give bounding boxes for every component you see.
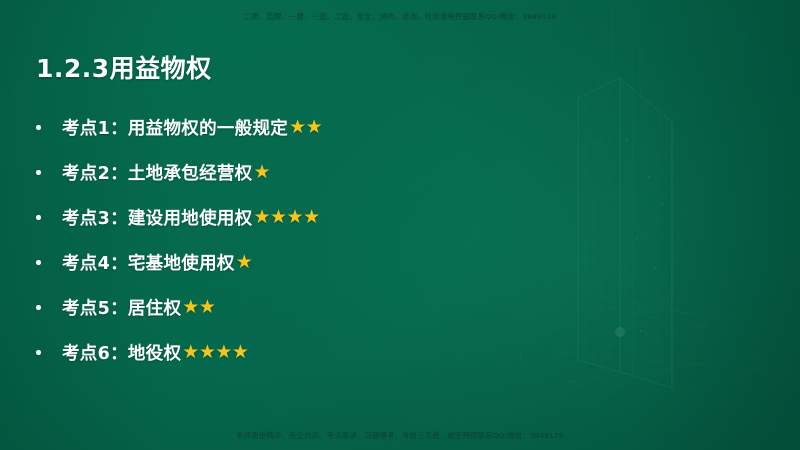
list-item: 考点1：用益物权的一般规定 ★★: [30, 105, 500, 150]
list-item-content: 考点3：建设用地使用权 ★★★★: [62, 205, 320, 230]
list-item-label: 考点2：土地承包经营权: [62, 160, 252, 185]
bottom-banner-text: 名师面授精华、央企内训、考点串讲、习题模考、考前三页纸，绝密押题联系QQ/微信：…: [0, 430, 800, 441]
list-item-content: 考点1：用益物权的一般规定 ★★: [62, 115, 322, 140]
list-item: 考点4：宅基地使用权 ★: [30, 240, 500, 285]
list-item-content: 考点4：宅基地使用权 ★: [62, 250, 252, 275]
bullet-dot-icon: [30, 125, 62, 130]
star-rating: ★★★★: [253, 208, 319, 227]
list-item: 考点6：地役权 ★★★★: [30, 330, 500, 375]
list-item-content: 考点5：居住权 ★★: [62, 295, 215, 320]
bullet-dot-icon: [30, 260, 62, 265]
star-rating: ★★: [182, 298, 215, 317]
top-banner-text: 二建、监理、一建、一造、二造、安全、消防、咨询、检测课程押题联系QQ/微信：38…: [0, 11, 800, 22]
bullet-dot-icon: [30, 170, 62, 175]
list-item-label: 考点6：地役权: [62, 340, 181, 365]
star-rating: ★★★★: [182, 343, 248, 362]
list-item-label: 考点4：宅基地使用权: [62, 250, 235, 275]
bullet-dot-icon: [30, 350, 62, 355]
list-item-label: 考点3：建设用地使用权: [62, 205, 252, 230]
list-item: 考点3：建设用地使用权 ★★★★: [30, 195, 500, 240]
list-item-content: 考点6：地役权 ★★★★: [62, 340, 248, 365]
slide-title: 1.2.3用益物权: [36, 49, 212, 85]
presentation-slide: 二建、监理、一建、一造、二造、安全、消防、咨询、检测课程押题联系QQ/微信：38…: [0, 0, 800, 450]
bullet-dot-icon: [30, 305, 62, 310]
star-rating: ★★: [289, 118, 322, 137]
list-item-label: 考点5：居住权: [62, 295, 181, 320]
list-item: 考点5：居住权 ★★: [30, 285, 500, 330]
bullet-list: 考点1：用益物权的一般规定 ★★ 考点2：土地承包经营权 ★ 考点3：建设用地使…: [30, 105, 500, 375]
list-item-content: 考点2：土地承包经营权 ★: [62, 160, 270, 185]
star-rating: ★: [253, 163, 270, 182]
list-item: 考点2：土地承包经营权 ★: [30, 150, 500, 195]
star-rating: ★: [236, 253, 253, 272]
list-item-label: 考点1：用益物权的一般规定: [62, 115, 288, 140]
bullet-dot-icon: [30, 215, 62, 220]
